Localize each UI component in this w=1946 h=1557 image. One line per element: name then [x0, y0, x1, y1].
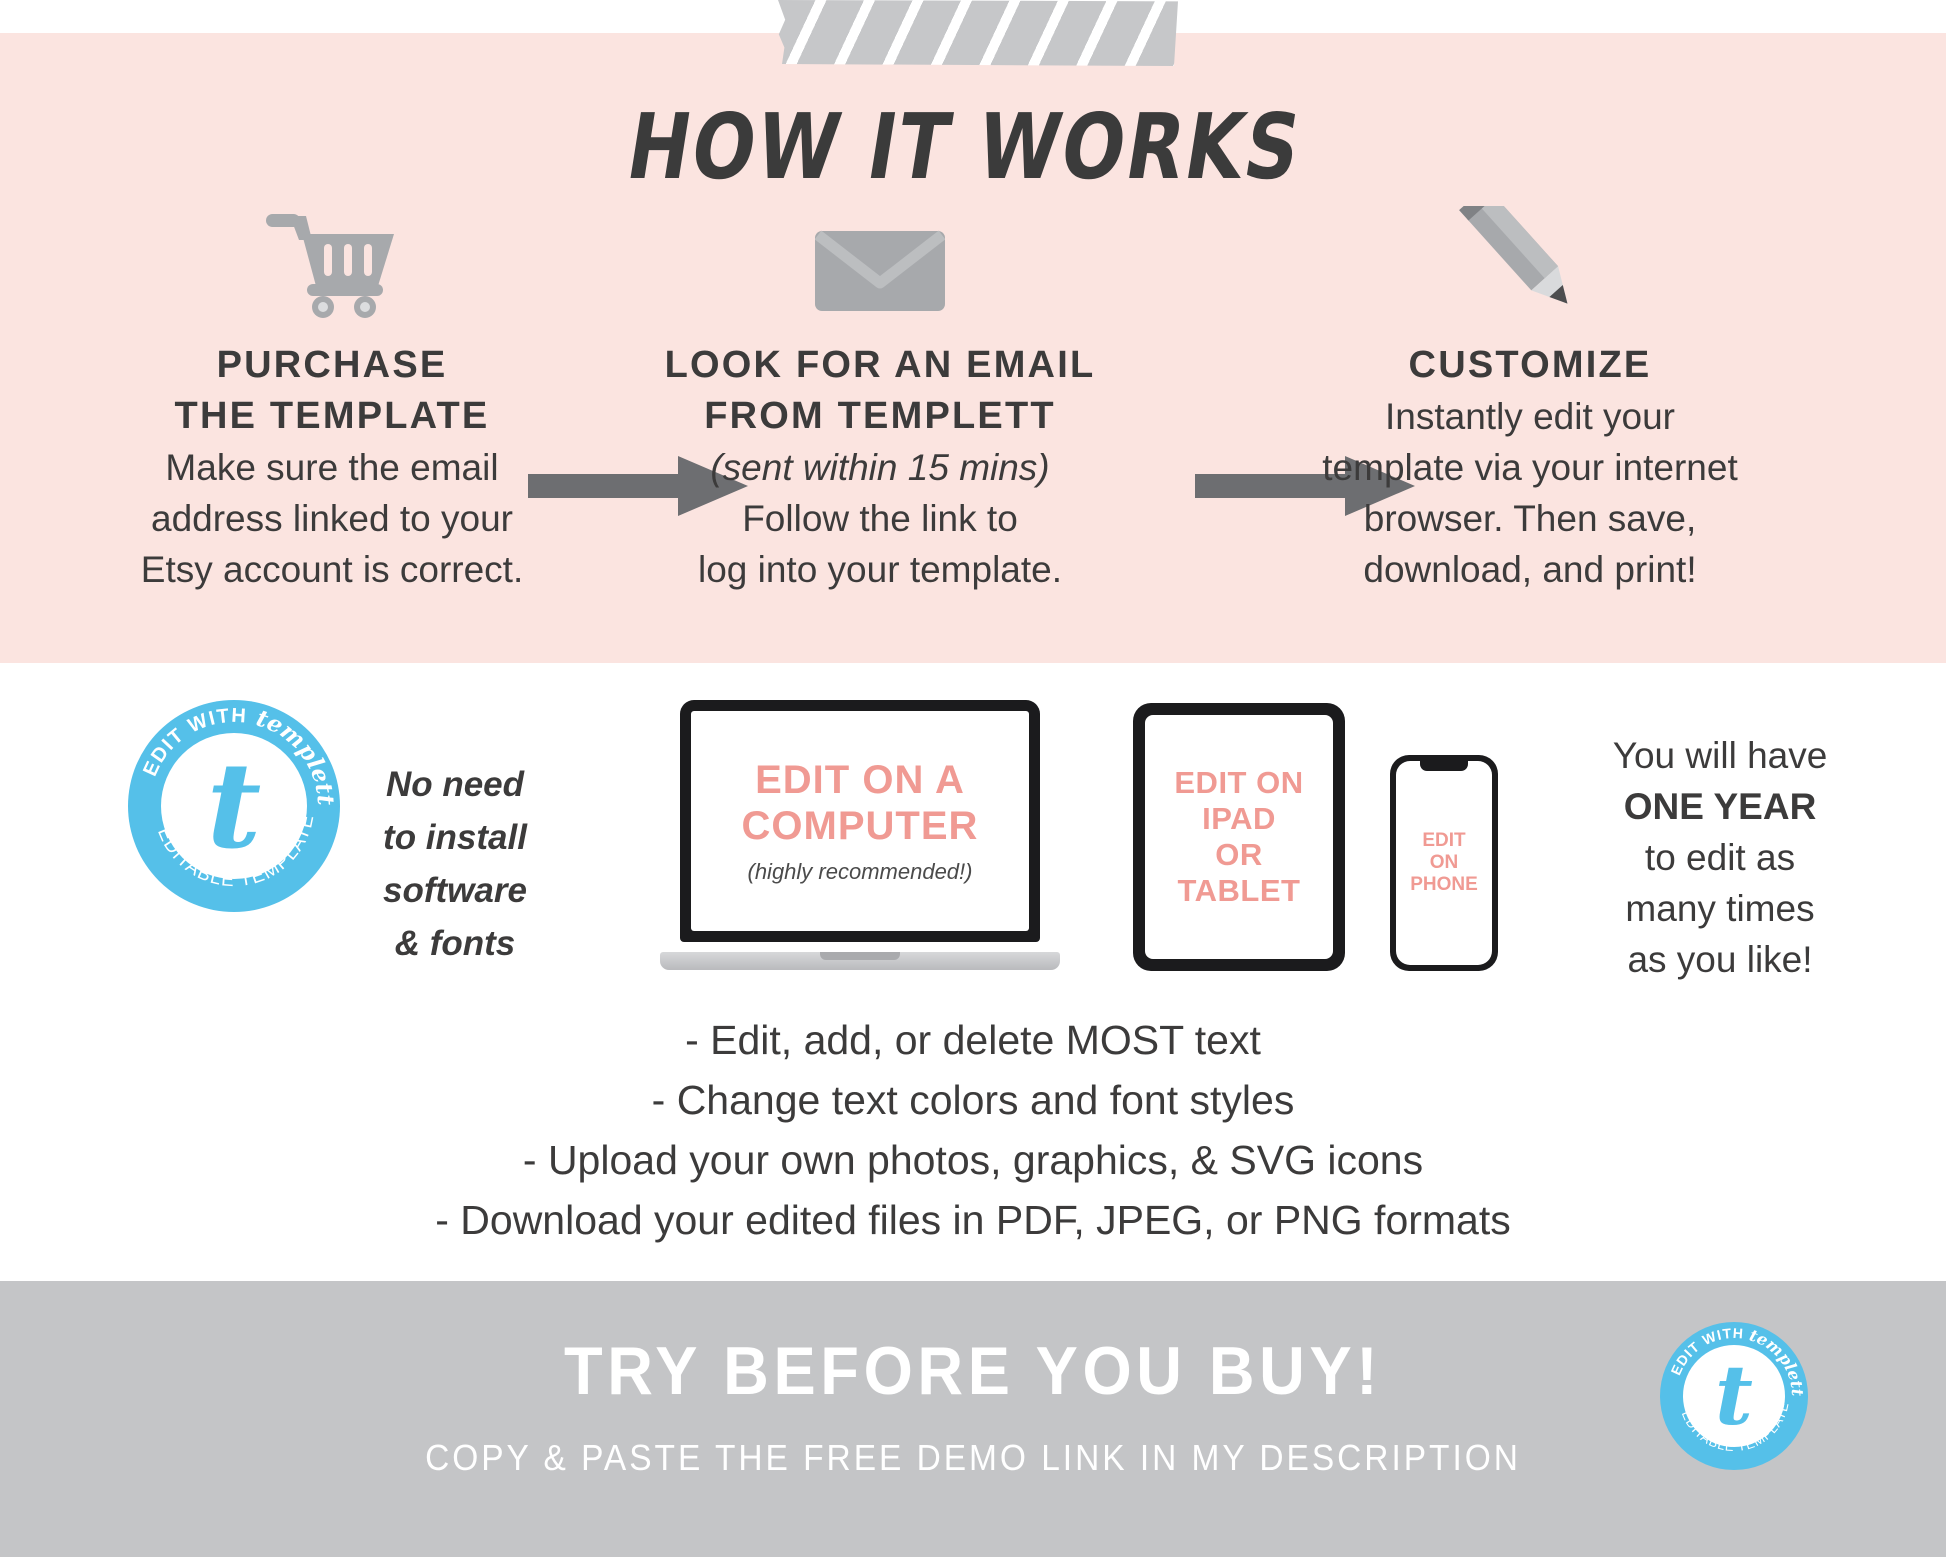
step-title: LOOK FOR AN EMAIL FROM TEMPLETT — [620, 340, 1140, 442]
tablet-device: EDIT ON IPAD OR TABLET — [1133, 703, 1345, 971]
list-item: - Upload your own photos, graphics, & SV… — [0, 1130, 1946, 1190]
list-item: - Change text colors and font styles — [0, 1070, 1946, 1130]
phone-screen-text: EDIT ON PHONE — [1410, 830, 1478, 896]
infographic-canvas: HOW IT WORKS — [0, 0, 1946, 1557]
templett-monogram: t — [128, 700, 340, 912]
step-customize: CUSTOMIZE Instantly edit your template v… — [1150, 200, 1910, 595]
tablet-screen-text: EDIT ON IPAD OR TABLET — [1174, 765, 1303, 909]
phone-device: EDIT ON PHONE — [1390, 755, 1498, 971]
step-title: CUSTOMIZE — [1150, 340, 1910, 391]
step-body: Instantly edit your template via your in… — [1150, 391, 1910, 595]
steps-row: PURCHASE THE TEMPLATE Make sure the emai… — [0, 200, 1946, 630]
step-title: PURCHASE THE TEMPLATE — [52, 340, 612, 442]
laptop-screen: EDIT ON A COMPUTER (highly recommended!) — [691, 711, 1029, 931]
banner-title: TRY BEFORE YOU BUY! — [68, 1332, 1878, 1410]
laptop-screen-note: (highly recommended!) — [748, 859, 973, 885]
phone-notch — [1420, 761, 1468, 771]
washi-tape-icon — [778, 0, 1178, 66]
page-title: HOW IT WORKS — [0, 95, 1946, 200]
envelope-icon — [620, 200, 1140, 318]
no-install-note: No need to install software & fonts — [360, 758, 550, 970]
phone-screen: EDIT ON PHONE — [1396, 761, 1492, 965]
feature-list: - Edit, add, or delete MOST text - Chang… — [0, 1010, 1946, 1250]
templett-badge: EDIT WITH templett EDITABLE TEMPLATE t — [1660, 1322, 1808, 1470]
step-body: (sent within 15 mins) Follow the link to… — [620, 442, 1140, 595]
laptop-base-notch — [820, 952, 900, 960]
templett-monogram: t — [1660, 1322, 1808, 1470]
list-item: - Edit, add, or delete MOST text — [0, 1010, 1946, 1070]
banner-subtitle: COPY & PASTE THE FREE DEMO LINK IN MY DE… — [68, 1437, 1878, 1479]
pencil-icon — [1150, 200, 1910, 318]
laptop-device: EDIT ON A COMPUTER (highly recommended!) — [660, 700, 1060, 970]
laptop-lid: EDIT ON A COMPUTER (highly recommended!) — [680, 700, 1040, 942]
step-purchase: PURCHASE THE TEMPLATE Make sure the emai… — [52, 200, 612, 595]
laptop-screen-text: EDIT ON A COMPUTER — [742, 757, 979, 849]
try-before-you-buy-banner — [0, 1281, 1946, 1557]
step-look-for-email: LOOK FOR AN EMAIL FROM TEMPLETT (sent wi… — [620, 200, 1140, 595]
list-item: - Download your edited files in PDF, JPE… — [0, 1190, 1946, 1250]
templett-badge: EDIT WITH templett EDITABLE TEMPLATE t — [128, 700, 340, 912]
tablet-screen: EDIT ON IPAD OR TABLET — [1145, 715, 1333, 959]
shopping-cart-icon — [52, 200, 612, 318]
one-year-note: You will have ONE YEAR to edit as many t… — [1520, 730, 1920, 985]
one-year-highlight: ONE YEAR — [1624, 786, 1817, 827]
